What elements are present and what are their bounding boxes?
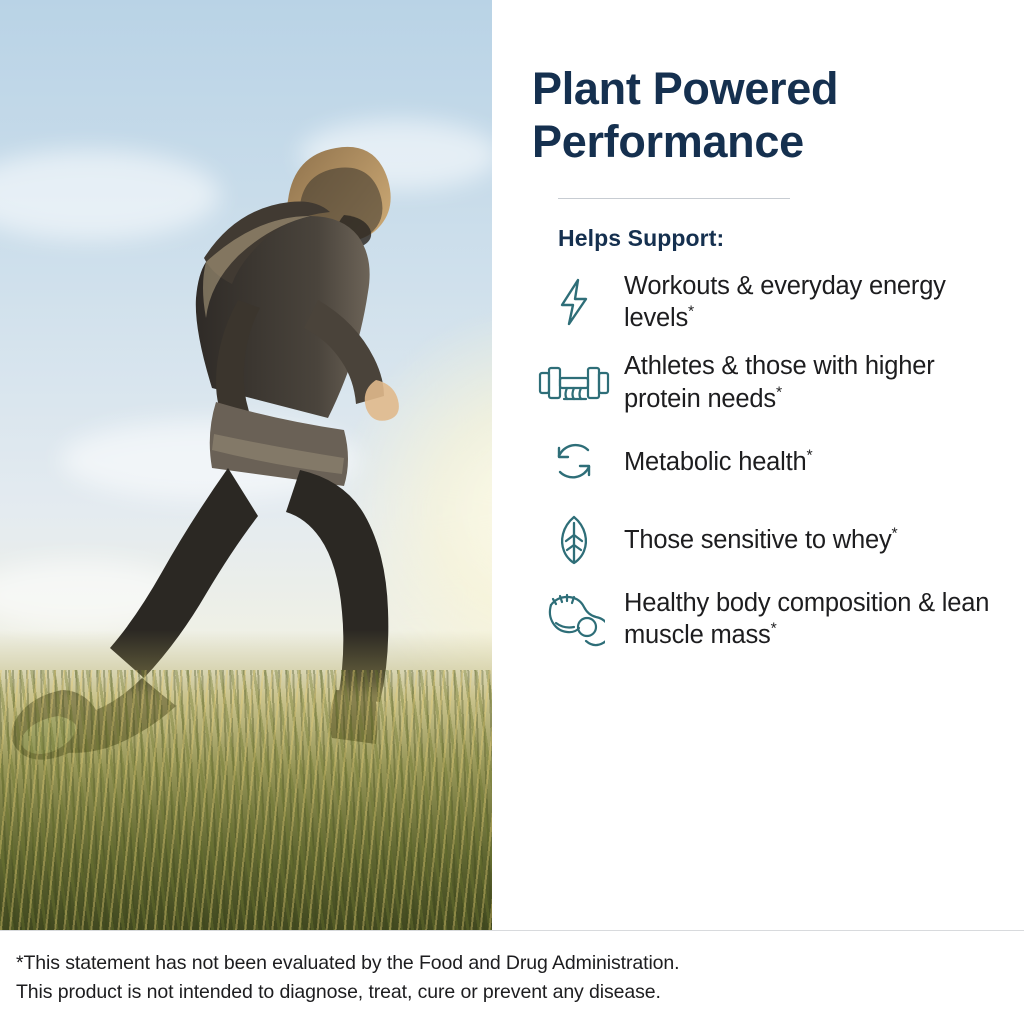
content-panel: Plant Powered Performance Helps Support:… bbox=[492, 0, 1024, 930]
asterisk-marker: * bbox=[771, 620, 777, 637]
list-item: Metabolic health* bbox=[524, 431, 1006, 493]
disclaimer-footer: *This statement has not been evaluated b… bbox=[0, 930, 1024, 1024]
flexing-arm-icon bbox=[524, 591, 624, 647]
disclaimer-line-2: This product is not intended to diagnose… bbox=[16, 978, 1024, 1006]
leaf-icon bbox=[524, 513, 624, 567]
list-item-label: Workouts & everyday energy levels* bbox=[624, 270, 1006, 334]
list-item: Workouts & everyday energy levels* bbox=[524, 270, 1006, 334]
page-title: Plant Powered Performance bbox=[524, 62, 1006, 168]
disclaimer-line-1: *This statement has not been evaluated b… bbox=[16, 949, 1024, 977]
asterisk-marker: * bbox=[688, 304, 694, 321]
list-item-label: Those sensitive to whey* bbox=[624, 524, 898, 556]
list-item: Athletes & those with higher protein nee… bbox=[524, 350, 1006, 414]
metabolism-arrows-icon bbox=[524, 436, 624, 488]
lightning-bolt-icon bbox=[524, 276, 624, 328]
list-item-label: Healthy body composition & lean muscle m… bbox=[624, 587, 1006, 651]
list-item-label: Metabolic health* bbox=[624, 446, 812, 478]
list-item-label: Athletes & those with higher protein nee… bbox=[624, 350, 1006, 414]
list-item: Healthy body composition & lean muscle m… bbox=[524, 587, 1006, 651]
product-info-card: Plant Powered Performance Helps Support:… bbox=[0, 0, 1024, 1024]
hero-photo bbox=[0, 0, 492, 930]
list-item: Those sensitive to whey* bbox=[524, 509, 1006, 571]
benefits-list: Workouts & everyday energy levels* bbox=[524, 270, 1006, 651]
dumbbell-icon bbox=[524, 359, 624, 407]
asterisk-marker: * bbox=[776, 384, 782, 401]
divider bbox=[558, 198, 790, 199]
grass-texture bbox=[0, 670, 492, 930]
asterisk-marker: * bbox=[807, 447, 813, 464]
section-subtitle: Helps Support: bbox=[558, 225, 1006, 252]
asterisk-marker: * bbox=[892, 525, 898, 542]
